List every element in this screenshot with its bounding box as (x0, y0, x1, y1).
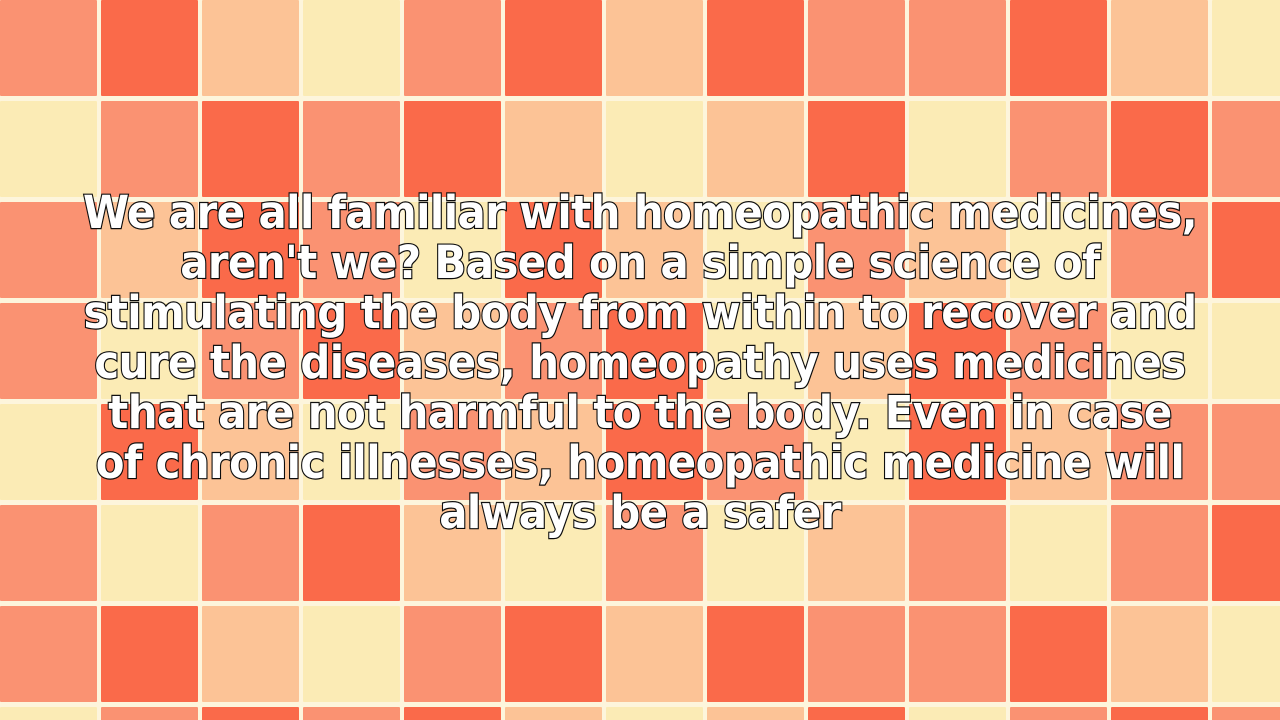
grid-cell (909, 707, 1006, 720)
slide-canvas: We are all familiar with homeopathic med… (0, 0, 1280, 720)
grid-cell (505, 101, 602, 197)
grid-cell (202, 101, 299, 197)
grid-cell (101, 707, 198, 720)
grid-cell (404, 707, 501, 720)
grid-cell (1111, 0, 1208, 96)
grid-cell (1212, 101, 1280, 197)
grid-cell (0, 606, 97, 702)
grid-cell (606, 707, 703, 720)
grid-cell (1010, 606, 1107, 702)
grid-cell (505, 707, 602, 720)
grid-cell (101, 101, 198, 197)
grid-cell (909, 101, 1006, 197)
grid-cell (303, 101, 400, 197)
grid-cell (505, 0, 602, 96)
grid-cell (1111, 101, 1208, 197)
grid-cell (303, 707, 400, 720)
caption-line: We are all familiar with homeopathic med… (45, 188, 1235, 238)
grid-cell (606, 0, 703, 96)
grid-cell (404, 606, 501, 702)
grid-cell (1010, 0, 1107, 96)
grid-cell (808, 606, 905, 702)
grid-cell (1212, 0, 1280, 96)
grid-cell (0, 101, 97, 197)
grid-cell (707, 707, 804, 720)
grid-cell (606, 101, 703, 197)
grid-cell (808, 101, 905, 197)
grid-cell (1111, 606, 1208, 702)
grid-cell (0, 0, 97, 96)
grid-cell (707, 606, 804, 702)
grid-cell (707, 101, 804, 197)
grid-cell (707, 0, 804, 96)
grid-cell (505, 606, 602, 702)
caption-text-block: We are all familiar with homeopathic med… (0, 188, 1280, 538)
caption-line: aren't we? Based on a simple science of (45, 238, 1235, 288)
grid-cell (404, 0, 501, 96)
grid-cell (909, 606, 1006, 702)
grid-cell (1212, 707, 1280, 720)
grid-cell (303, 0, 400, 96)
grid-cell (606, 606, 703, 702)
grid-cell (1010, 101, 1107, 197)
caption-line: stimulating the body from within to reco… (45, 288, 1235, 338)
grid-cell (202, 0, 299, 96)
grid-cell (808, 707, 905, 720)
caption-line: that are not harmful to the body. Even i… (45, 388, 1235, 438)
caption-line: always be a safer (45, 488, 1235, 538)
grid-cell (1010, 707, 1107, 720)
grid-cell (404, 101, 501, 197)
grid-cell (1212, 606, 1280, 702)
grid-cell (101, 0, 198, 96)
grid-cell (1111, 707, 1208, 720)
grid-cell (808, 0, 905, 96)
grid-cell (303, 606, 400, 702)
caption-line: cure the diseases, homeopathy uses medic… (45, 338, 1235, 388)
caption-line: of chronic illnesses, homeopathic medici… (45, 438, 1235, 488)
grid-cell (202, 606, 299, 702)
grid-cell (101, 606, 198, 702)
grid-cell (909, 0, 1006, 96)
grid-cell (202, 707, 299, 720)
grid-cell (0, 707, 97, 720)
